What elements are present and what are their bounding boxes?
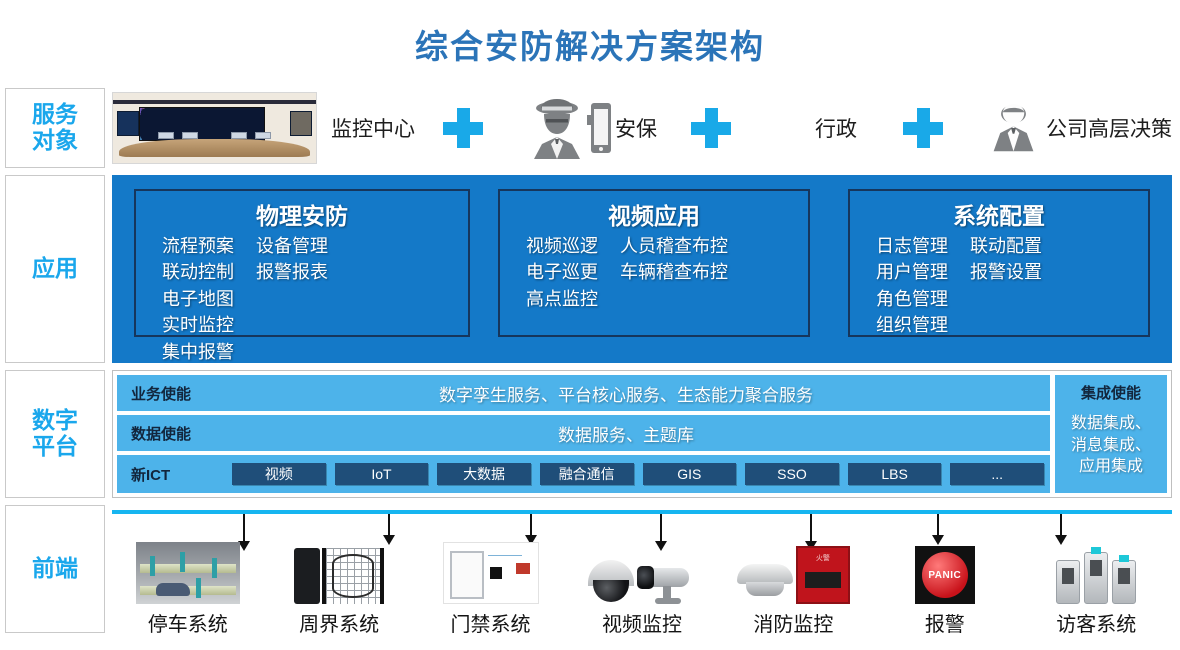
device-label: 视频监控	[566, 608, 717, 637]
service-label-executive-decision: 公司高层决策	[1046, 113, 1172, 143]
platform-row-value: 数据服务、主题库	[232, 421, 1050, 446]
fire-alarm-icon: 火警	[718, 532, 869, 604]
service-entry-security	[529, 95, 613, 161]
turnstile-gate-icon	[1021, 532, 1172, 604]
service-label-monitoring-center: 监控中心	[331, 113, 415, 143]
platform-row-new-ict[interactable]: 新ICT 视频 IoT 大数据 融合通信 GIS SSO LBS ...	[117, 455, 1050, 493]
platform-rows: 业务使能 数字孪生服务、平台核心服务、生态能力聚合服务 数据使能 数据服务、主题…	[117, 375, 1050, 493]
device-label: 门禁系统	[415, 608, 566, 637]
sidebar-label-text: 服务 对象	[32, 102, 78, 154]
device-fire-monitoring[interactable]: 火警 消防监控	[718, 532, 869, 637]
photo-console-desk	[119, 139, 310, 157]
platform-integration-enablement[interactable]: 集成使能 数据集成、 消息集成、 应用集成	[1055, 375, 1167, 493]
application-layer-band: 物理安防 流程预案 联动控制 电子地图 实时监控 集中报警 设备管理 报警报表 …	[112, 175, 1172, 363]
app-item-column: 设备管理 报警报表	[256, 233, 328, 365]
plus-icon	[903, 108, 943, 148]
integration-body: 数据集成、 消息集成、 应用集成	[1071, 413, 1151, 478]
sidebar-item-frontend[interactable]: 前端	[5, 505, 105, 633]
device-visitor[interactable]: 访客系统	[1021, 532, 1172, 637]
app-box-physical-security[interactable]: 物理安防 流程预案 联动控制 电子地图 实时监控 集中报警 设备管理 报警报表	[134, 189, 470, 337]
device-label: 消防监控	[718, 608, 869, 637]
app-item[interactable]: 集中报警	[162, 339, 234, 365]
device-access-control[interactable]: 门禁系统	[415, 532, 566, 637]
sidebar-item-service-objects[interactable]: 服务 对象	[5, 88, 105, 168]
device-label: 报警	[869, 608, 1020, 637]
ict-tag-sso[interactable]: SSO	[745, 463, 839, 485]
app-box-system-configuration[interactable]: 系统配置 日志管理 用户管理 角色管理 组织管理 联动配置 报警设置	[848, 189, 1150, 337]
sidebar-item-application[interactable]: 应用	[5, 175, 105, 363]
device-label: 停车系统	[112, 608, 263, 637]
photo-side-panel-right	[290, 111, 312, 136]
device-parking[interactable]: 停车系统	[112, 532, 263, 637]
app-item-column: 联动配置 报警设置	[970, 233, 1042, 339]
service-label-administration: 行政	[815, 113, 857, 143]
app-item-column: 视频巡逻 电子巡更 高点监控	[526, 233, 598, 312]
app-item[interactable]: 设备管理	[256, 233, 328, 259]
app-item[interactable]: 联动配置	[970, 233, 1042, 259]
photo-monitor	[182, 132, 198, 140]
platform-row-value: 数字孪生服务、平台核心服务、生态能力聚合服务	[232, 381, 1050, 406]
ict-tag-strip: 视频 IoT 大数据 融合通信 GIS SSO LBS ...	[232, 463, 1050, 485]
photo-side-panel-left	[117, 111, 139, 136]
sidebar-label-text: 应用	[32, 256, 78, 282]
device-perimeter[interactable]: 周界系统	[263, 532, 414, 637]
app-item[interactable]: 报警设置	[970, 259, 1042, 285]
app-item[interactable]: 视频巡逻	[526, 233, 598, 259]
panic-button-icon: PANIC	[869, 532, 1020, 604]
ict-tag-iot[interactable]: IoT	[335, 463, 429, 485]
app-item[interactable]: 高点监控	[526, 286, 598, 312]
device-video-surveillance[interactable]: 视频监控	[566, 532, 717, 637]
integration-title: 集成使能	[1081, 382, 1141, 403]
platform-frontend-divider	[112, 510, 1172, 514]
app-item[interactable]: 流程预案	[162, 233, 234, 259]
app-item[interactable]: 电子巡更	[526, 259, 598, 285]
app-item-column: 流程预案 联动控制 电子地图 实时监控 集中报警	[162, 233, 234, 365]
sidebar-item-digital-platform[interactable]: 数字 平台	[5, 370, 105, 498]
plus-icon	[443, 108, 483, 148]
ict-tag-lbs[interactable]: LBS	[848, 463, 942, 485]
device-label: 周界系统	[263, 608, 414, 637]
parking-barrier-icon	[112, 532, 263, 604]
photo-monitor	[158, 132, 174, 140]
ict-tag-gis[interactable]: GIS	[643, 463, 737, 485]
access-control-icon	[415, 532, 566, 604]
app-item[interactable]: 用户管理	[876, 259, 948, 285]
perimeter-fence-icon	[263, 532, 414, 604]
sidebar-label-text: 前端	[32, 556, 78, 582]
app-item[interactable]: 联动控制	[162, 259, 234, 285]
device-alarm[interactable]: PANIC 报警	[869, 532, 1020, 637]
plus-icon	[691, 108, 731, 148]
app-item[interactable]: 车辆稽查布控	[620, 259, 728, 285]
platform-row-label: 新ICT	[117, 464, 232, 485]
device-label: 访客系统	[1021, 608, 1172, 637]
ict-tag-more[interactable]: ...	[950, 463, 1044, 485]
app-item[interactable]: 角色管理	[876, 286, 948, 312]
page-title: 综合安防解决方案架构	[0, 20, 1180, 68]
app-item[interactable]: 电子地图	[162, 286, 234, 312]
app-item[interactable]: 人员稽查布控	[620, 233, 728, 259]
platform-row-business-enablement[interactable]: 业务使能 数字孪生服务、平台核心服务、生态能力聚合服务	[117, 375, 1050, 411]
photo-monitor	[255, 132, 271, 140]
sidebar-label-text: 数字 平台	[32, 408, 78, 460]
executive-icon	[987, 96, 1040, 160]
digital-platform-panel: 业务使能 数字孪生服务、平台核心服务、生态能力聚合服务 数据使能 数据服务、主题…	[112, 370, 1172, 498]
ict-tag-video[interactable]: 视频	[232, 463, 326, 485]
ict-tag-ucs[interactable]: 融合通信	[540, 463, 634, 485]
cctv-camera-icon	[566, 532, 717, 604]
app-box-title: 物理安防	[136, 197, 468, 231]
photo-monitor	[231, 132, 247, 140]
security-guard-icon	[529, 95, 585, 161]
app-item[interactable]: 组织管理	[876, 312, 948, 338]
platform-row-label: 业务使能	[117, 383, 232, 404]
app-item-column: 日志管理 用户管理 角色管理 组织管理	[876, 233, 948, 339]
service-label-security: 安保	[615, 113, 657, 143]
app-item-column: 人员稽查布控 车辆稽查布控	[620, 233, 728, 312]
app-box-title: 系统配置	[850, 197, 1148, 231]
app-item[interactable]: 日志管理	[876, 233, 948, 259]
platform-row-label: 数据使能	[117, 423, 232, 444]
ict-tag-bigdata[interactable]: 大数据	[437, 463, 531, 485]
frontend-devices-row: 停车系统 周界系统 门禁系统 视	[112, 522, 1172, 637]
app-box-title: 视频应用	[500, 197, 808, 231]
mobile-phone-icon	[587, 101, 613, 155]
service-objects-row: 监控中心 安保 行政 公司高层决策	[112, 88, 1172, 168]
app-box-video-application[interactable]: 视频应用 视频巡逻 电子巡更 高点监控 人员稽查布控 车辆稽查布控	[498, 189, 810, 337]
app-item[interactable]: 实时监控	[162, 312, 234, 338]
platform-row-data-enablement[interactable]: 数据使能 数据服务、主题库	[117, 415, 1050, 451]
control-room-photo	[112, 92, 317, 164]
app-item[interactable]: 报警报表	[256, 259, 328, 285]
